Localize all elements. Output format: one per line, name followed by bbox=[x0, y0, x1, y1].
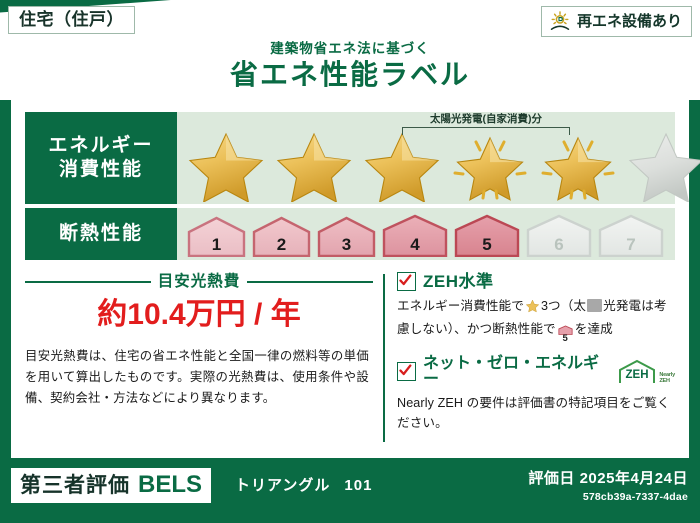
zeh-standard-header: ZEH水準 bbox=[397, 272, 675, 291]
heading-rule-right bbox=[247, 281, 373, 283]
star-1 bbox=[183, 128, 269, 202]
insulation-level-2: 2 bbox=[250, 215, 313, 257]
zeh-logo-sub: Nearly ZEH bbox=[659, 373, 675, 385]
insulation-level-4: 4 bbox=[380, 213, 450, 257]
insulation-label-text: 断熱性能 bbox=[59, 222, 143, 246]
label-footer: 第三者評価 BELS トリアングル101 評価日 2025年4月24日 578c… bbox=[0, 462, 700, 523]
evaluator-name: トリアングル bbox=[235, 477, 330, 494]
zeh-standard-checkbox bbox=[397, 272, 416, 291]
insulation-level-7-number: 7 bbox=[596, 236, 666, 253]
zeh-body-stars: 3つ（太 bbox=[541, 299, 586, 313]
redaction-block bbox=[587, 299, 602, 312]
heading-rule-left bbox=[25, 281, 151, 283]
insulation-scale: 1 2 bbox=[185, 213, 666, 257]
title-subtitle: 建築物省エネ法に基づく bbox=[0, 42, 700, 56]
solar-contribution-annotation: 太陽光発電(自家消費)分 bbox=[391, 114, 581, 135]
inline-star-icon bbox=[525, 298, 540, 319]
star-6-empty bbox=[623, 128, 700, 202]
zeh-logo-sub-line2: ZEH bbox=[659, 378, 669, 384]
insulation-level-3: 3 bbox=[315, 215, 378, 257]
star-3 bbox=[359, 128, 445, 202]
energy-performance-stars-area: 太陽光発電(自家消費)分 bbox=[177, 112, 675, 204]
insulation-level-7: 7 bbox=[596, 213, 666, 257]
net-zero-checkbox bbox=[397, 362, 416, 381]
net-zero-title: ネット・ゼロ・エネルギー bbox=[423, 356, 607, 388]
star-4-solar bbox=[447, 128, 533, 202]
evaluator-number: 101 bbox=[344, 477, 372, 494]
evaluator-info: トリアングル101 bbox=[235, 478, 372, 493]
bels-en-text: BELS bbox=[138, 473, 202, 497]
energy-performance-label-line1: エネルギー bbox=[48, 134, 153, 158]
insulation-level-2-number: 2 bbox=[250, 236, 313, 253]
utility-cost-description: 目安光熱費は、住宅の省エネ性能と全国一律の燃料等の単価を用いて算出したものです。… bbox=[25, 346, 373, 410]
zeh-body-part1: エネルギー消費性能で bbox=[397, 299, 524, 313]
energy-performance-label-line2: 消費性能 bbox=[59, 158, 143, 182]
zeh-body-part3: を達成 bbox=[575, 322, 613, 336]
star-rating bbox=[183, 128, 700, 202]
inline-house-badge: 5 bbox=[558, 323, 573, 343]
insulation-level-1-number: 1 bbox=[185, 236, 248, 253]
evaluation-date: 評価日 2025年4月24日 bbox=[528, 470, 688, 488]
title-main: 省エネ性能ラベル bbox=[0, 59, 700, 90]
insulation-level-5: 5 bbox=[452, 213, 522, 257]
insulation-scale-area: 1 2 bbox=[177, 208, 675, 260]
star-2 bbox=[271, 128, 357, 202]
solar-annotation-text: 太陽光発電(自家消費)分 bbox=[391, 114, 581, 125]
net-zero-body: Nearly ZEH の要件は評価書の特記項目をご覧ください。 bbox=[397, 393, 675, 434]
zeh-standard-title: ZEH水準 bbox=[423, 273, 494, 290]
check-icon bbox=[399, 274, 412, 287]
svg-text:ZEH: ZEH bbox=[626, 369, 649, 381]
insulation-level-4-number: 4 bbox=[380, 236, 450, 253]
label-body-card: エネルギー 消費性能 太陽光発電(自家消費)分 bbox=[11, 100, 689, 458]
energy-performance-row: エネルギー 消費性能 太陽光発電(自家消費)分 bbox=[25, 112, 675, 204]
insulation-level-3-number: 3 bbox=[315, 236, 378, 253]
building-type-tag: 住宅（住戸） bbox=[8, 6, 135, 34]
utility-cost-heading-text: 目安光熱費 bbox=[158, 274, 241, 290]
insulation-level-5-number: 5 bbox=[452, 236, 522, 253]
lower-section: 目安光熱費 約10.4万円 / 年 目安光熱費は、住宅の省エネ性能と全国一律の燃… bbox=[25, 270, 675, 448]
zeh-standard-body: エネルギー消費性能で3つ（太光発電は考慮しない）、かつ断熱性能で5を達成 bbox=[397, 296, 675, 344]
check-icon bbox=[399, 364, 412, 377]
vertical-divider bbox=[383, 274, 385, 442]
standards-section: ZEH水準 エネルギー消費性能で3つ（太光発電は考慮しない）、かつ断熱性能で5を… bbox=[397, 270, 675, 434]
insulation-level-6-number: 6 bbox=[524, 236, 594, 253]
insulation-level-6: 6 bbox=[524, 213, 594, 257]
bels-jp-text: 第三者評価 bbox=[20, 475, 130, 496]
utility-cost-value: 約10.4万円 / 年 bbox=[25, 300, 373, 330]
renewable-badge-label: 再エネ設備あり bbox=[577, 14, 682, 29]
evaluation-meta: 評価日 2025年4月24日 578cb39a-7337-4dae bbox=[528, 470, 688, 505]
energy-performance-label: エネルギー 消費性能 bbox=[25, 112, 177, 204]
utility-cost-heading: 目安光熱費 bbox=[25, 274, 373, 290]
bels-badge: 第三者評価 BELS bbox=[11, 468, 211, 503]
utility-cost-section: 目安光熱費 約10.4万円 / 年 目安光熱費は、住宅の省エネ性能と全国一律の燃… bbox=[25, 270, 373, 448]
renewable-equipment-badge: 再エネ設備あり bbox=[541, 6, 692, 37]
net-zero-header: ネット・ゼロ・エネルギー ZEH Nearly ZEH bbox=[397, 356, 675, 388]
star-5-solar bbox=[535, 128, 621, 202]
energy-performance-label: 住宅（住戸） 再エネ設備あり 建築物省エネ法に基づく 省エネ性 bbox=[0, 0, 700, 523]
insulation-level-1: 1 bbox=[185, 215, 248, 257]
zeh-house-logo-icon: ZEH bbox=[617, 359, 657, 385]
zeh-logo: ZEH Nearly ZEH bbox=[617, 359, 675, 385]
sun-icon bbox=[549, 11, 571, 31]
insulation-performance-row: 断熱性能 1 bbox=[25, 208, 675, 260]
evaluation-id: 578cb39a-7337-4dae bbox=[528, 490, 688, 505]
inline-house-number: 5 bbox=[558, 334, 573, 344]
label-title: 建築物省エネ法に基づく 省エネ性能ラベル bbox=[0, 42, 700, 90]
solar-bracket bbox=[402, 127, 570, 135]
insulation-performance-label: 断熱性能 bbox=[25, 208, 177, 260]
